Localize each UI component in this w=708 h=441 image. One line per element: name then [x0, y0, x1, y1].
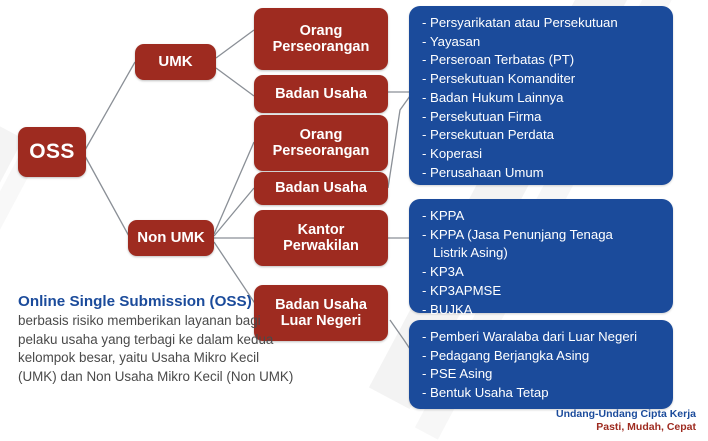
detail-box-badan-usaha-luar-negeri-types: - Pemberi Waralaba dari Luar Negeri - Pe… [409, 320, 673, 409]
detail-item: - Persekutuan Firma [422, 108, 661, 127]
detail-box-kantor-perwakilan-types: - KPPA - KPPA (Jasa Penunjang Tenaga Lis… [409, 199, 673, 313]
connector-umk-badan [216, 68, 254, 96]
detail-item: - Koperasi [422, 145, 661, 164]
node-umk-orang-perseorangan-label: Orang Perseorangan [273, 23, 370, 55]
detail-box-badan-usaha-types: - Persyarikatan atau Persekutuan - Yayas… [409, 6, 673, 185]
node-nonumk-orang-perseorangan-label: Orang Perseorangan [273, 127, 370, 159]
detail-item: - Badan Hukum Lainnya [422, 89, 661, 108]
node-non-umk[interactable]: Non UMK [128, 220, 214, 256]
node-nonumk-orang-perseorangan[interactable]: Orang Perseorangan [254, 115, 388, 171]
connector-oss-nonumk [85, 156, 130, 238]
node-nonumk-kantor-perwakilan[interactable]: Kantor Perwakilan [254, 210, 388, 266]
detail-item: - BUJKA [422, 301, 661, 320]
detail-item: - Bentuk Usaha Tetap [422, 384, 661, 403]
detail-item: - KP3A [422, 263, 661, 282]
detail-list-badan-usaha-types: - Persyarikatan atau Persekutuan - Yayas… [422, 14, 661, 183]
detail-item: - Pemberi Waralaba dari Luar Negeri [422, 328, 661, 347]
footer-slogan: Undang-Undang Cipta Kerja Pasti, Mudah, … [556, 408, 696, 435]
connector-nonumk-badan [214, 188, 254, 236]
detail-list-kantor-perwakilan-types: - KPPA - KPPA (Jasa Penunjang Tenaga Lis… [422, 207, 661, 319]
detail-item: - Perusahaan Umum [422, 164, 661, 183]
node-umk-badan-usaha[interactable]: Badan Usaha [254, 75, 388, 113]
connector-oss-umk [85, 62, 135, 150]
node-umk-badan-usaha-label: Badan Usaha [275, 86, 367, 102]
node-nonumk-kantor-perwakilan-label: Kantor Perwakilan [283, 222, 359, 254]
node-umk[interactable]: UMK [135, 44, 216, 80]
node-umk-orang-perseorangan[interactable]: Orang Perseorangan [254, 8, 388, 70]
detail-item: - Pedagang Berjangka Asing [422, 347, 661, 366]
node-oss-label: OSS [29, 140, 75, 164]
detail-item: - KP3APMSE [422, 282, 661, 301]
connector-nonumk-orang [214, 142, 254, 234]
connector-umk-orang [216, 30, 254, 58]
node-nonumk-badan-usaha-label: Badan Usaha [275, 180, 367, 196]
detail-item: - Persekutuan Perdata [422, 126, 661, 145]
caption-body: berbasis risiko memberikan layanan bagi … [18, 312, 296, 386]
connector-badan2-bluebox1 [388, 96, 410, 188]
footer-line-2: Pasti, Mudah, Cepat [556, 421, 696, 435]
detail-item: - PSE Asing [422, 365, 661, 384]
diagram-canvas: OSS UMK Non UMK Orang Perseorangan Badan… [0, 0, 708, 441]
detail-item: - Persekutuan Komanditer [422, 70, 661, 89]
node-umk-label: UMK [158, 54, 192, 71]
caption-title: Online Single Submission (OSS) [18, 292, 296, 311]
detail-item: - Yayasan [422, 33, 661, 52]
node-non-umk-label: Non UMK [137, 230, 205, 247]
caption-block: Online Single Submission (OSS) berbasis … [18, 292, 296, 386]
detail-item: - Perseroan Terbatas (PT) [422, 51, 661, 70]
detail-list-badan-usaha-luar-negeri-types: - Pemberi Waralaba dari Luar Negeri - Pe… [422, 328, 661, 403]
node-nonumk-badan-usaha[interactable]: Badan Usaha [254, 172, 388, 205]
footer-line-1: Undang-Undang Cipta Kerja [556, 408, 696, 422]
detail-item: - Persyarikatan atau Persekutuan [422, 14, 661, 33]
detail-item: - KPPA [422, 207, 661, 226]
node-oss[interactable]: OSS [18, 127, 86, 177]
detail-item: - KPPA (Jasa Penunjang Tenaga Listrik As… [422, 226, 661, 263]
